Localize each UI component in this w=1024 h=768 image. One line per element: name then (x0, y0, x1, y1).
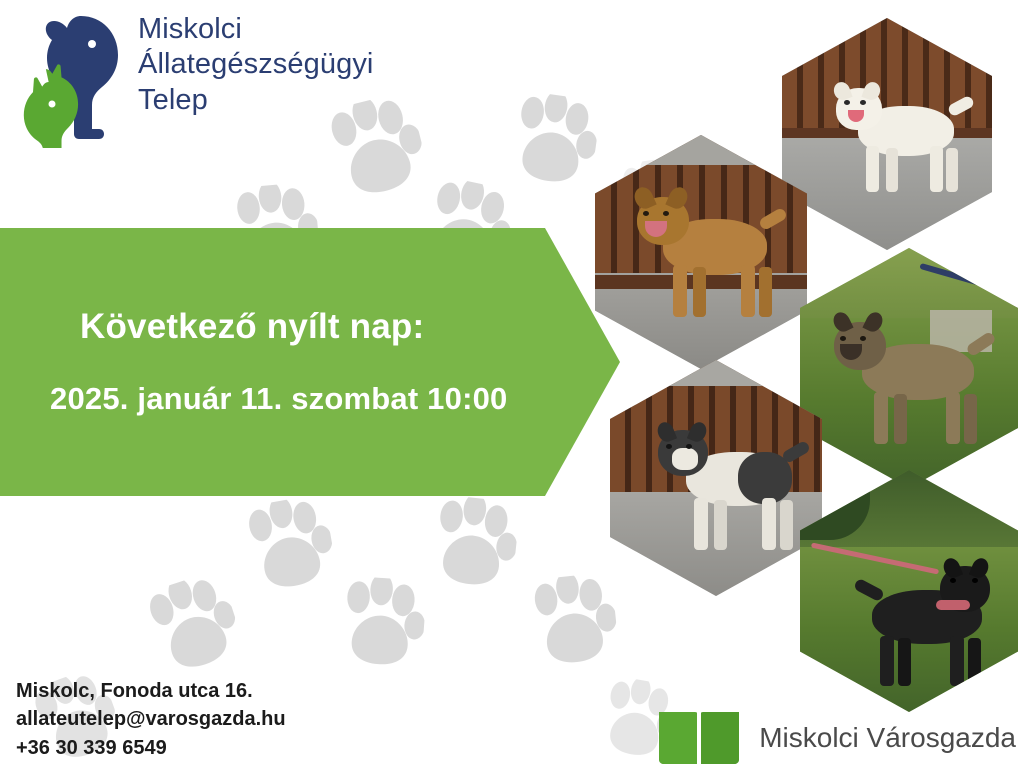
photo-white-dog-by-fence (782, 18, 992, 250)
contact-address: Miskolc, Fonoda utca 16. (16, 677, 286, 705)
footer-brand: Miskolci Városgazda (653, 708, 1016, 768)
paw-print-icon (425, 494, 520, 596)
banner-date: 2025. január 11. szombat 10:00 (50, 381, 620, 417)
banner-title: Következő nyílt nap: (80, 307, 620, 347)
logo-line-2: Állategészségügyi (138, 47, 373, 82)
footer-brand-name: Miskolci Városgazda (759, 722, 1016, 754)
contact-phone[interactable]: +36 30 339 6549 (16, 734, 286, 762)
announcement-banner: Következő nyílt nap: 2025. január 11. sz… (0, 228, 620, 496)
photo-black-white-dog-by-fence (610, 360, 822, 596)
green-book-logo-icon (653, 708, 745, 768)
dog-cat-silhouette-logo-icon (18, 8, 128, 148)
paw-print-icon (335, 575, 427, 675)
photo-brindle-dog-on-grass (800, 248, 1018, 488)
paw-print-icon (238, 493, 339, 601)
paw-print-icon (138, 569, 249, 685)
contact-block: Miskolc, Fonoda utca 16. allateutelep@va… (16, 677, 286, 762)
paw-print-icon (525, 572, 620, 674)
logo-line-1: Miskolci (138, 12, 373, 47)
logo-line-3: Telep (138, 83, 373, 118)
photo-black-dog-on-grass (800, 470, 1018, 712)
poster-canvas: Miskolci Állategészségügyi Telep (0, 0, 1024, 768)
organization-logo: Miskolci Állategészségügyi Telep (18, 8, 373, 148)
contact-email[interactable]: allateutelep@varosgazda.hu (16, 705, 286, 733)
paw-print-icon (504, 89, 602, 194)
organization-name: Miskolci Állategészségügyi Telep (138, 8, 373, 118)
